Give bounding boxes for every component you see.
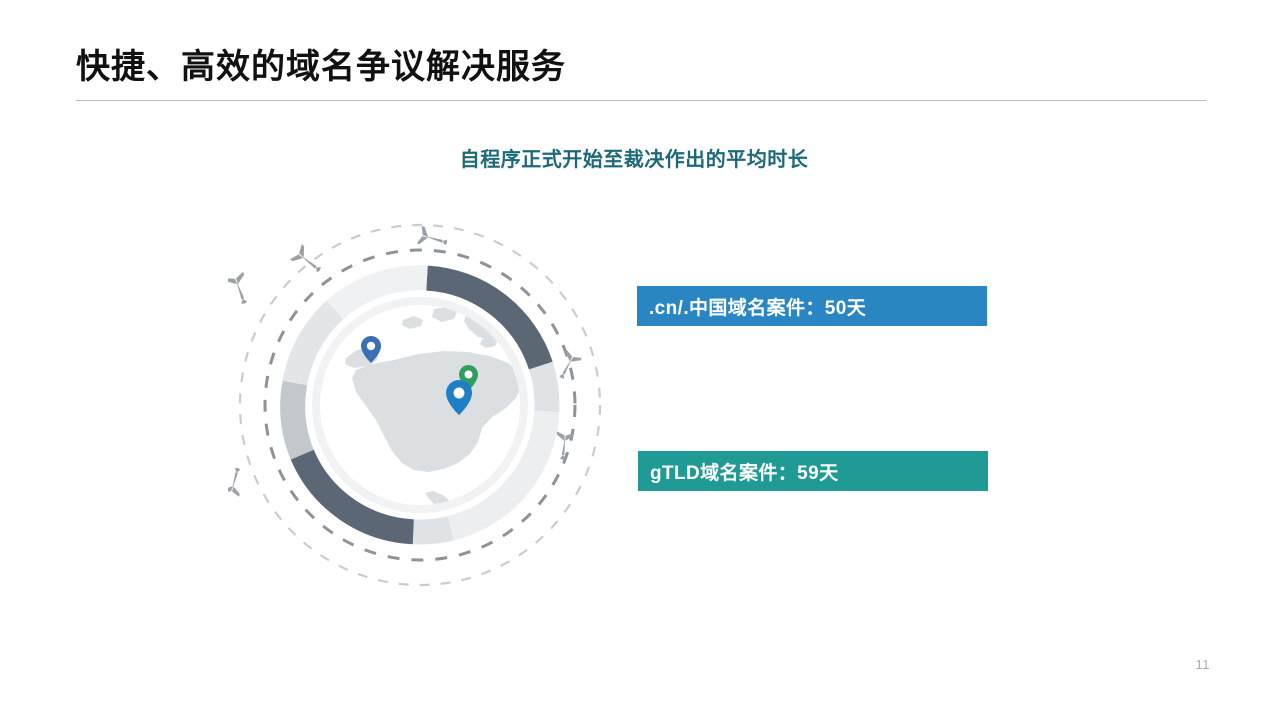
page-number: 11 [1196, 657, 1211, 672]
globe-illustration [228, 208, 618, 598]
slide-canvas: 快捷、高效的域名争议解决服务 自程序正式开始至裁决作出的平均时长 [0, 0, 1280, 720]
callout-bar-gtld: gTLD域名案件：59天 [638, 451, 988, 491]
callout-label-cn: .cn/.中国域名案件：50天 [649, 293, 866, 320]
chart-subtitle: 自程序正式开始至裁决作出的平均时长 [0, 143, 1280, 172]
page-title: 快捷、高效的域名争议解决服务 [76, 47, 566, 88]
title-divider [76, 100, 1206, 101]
callout-bar-cn: .cn/.中国域名案件：50天 [637, 286, 987, 326]
callout-label-gtld: gTLD域名案件：59天 [650, 458, 838, 485]
chart-subtitle-text: 自程序正式开始至裁决作出的平均时长 [460, 143, 809, 172]
